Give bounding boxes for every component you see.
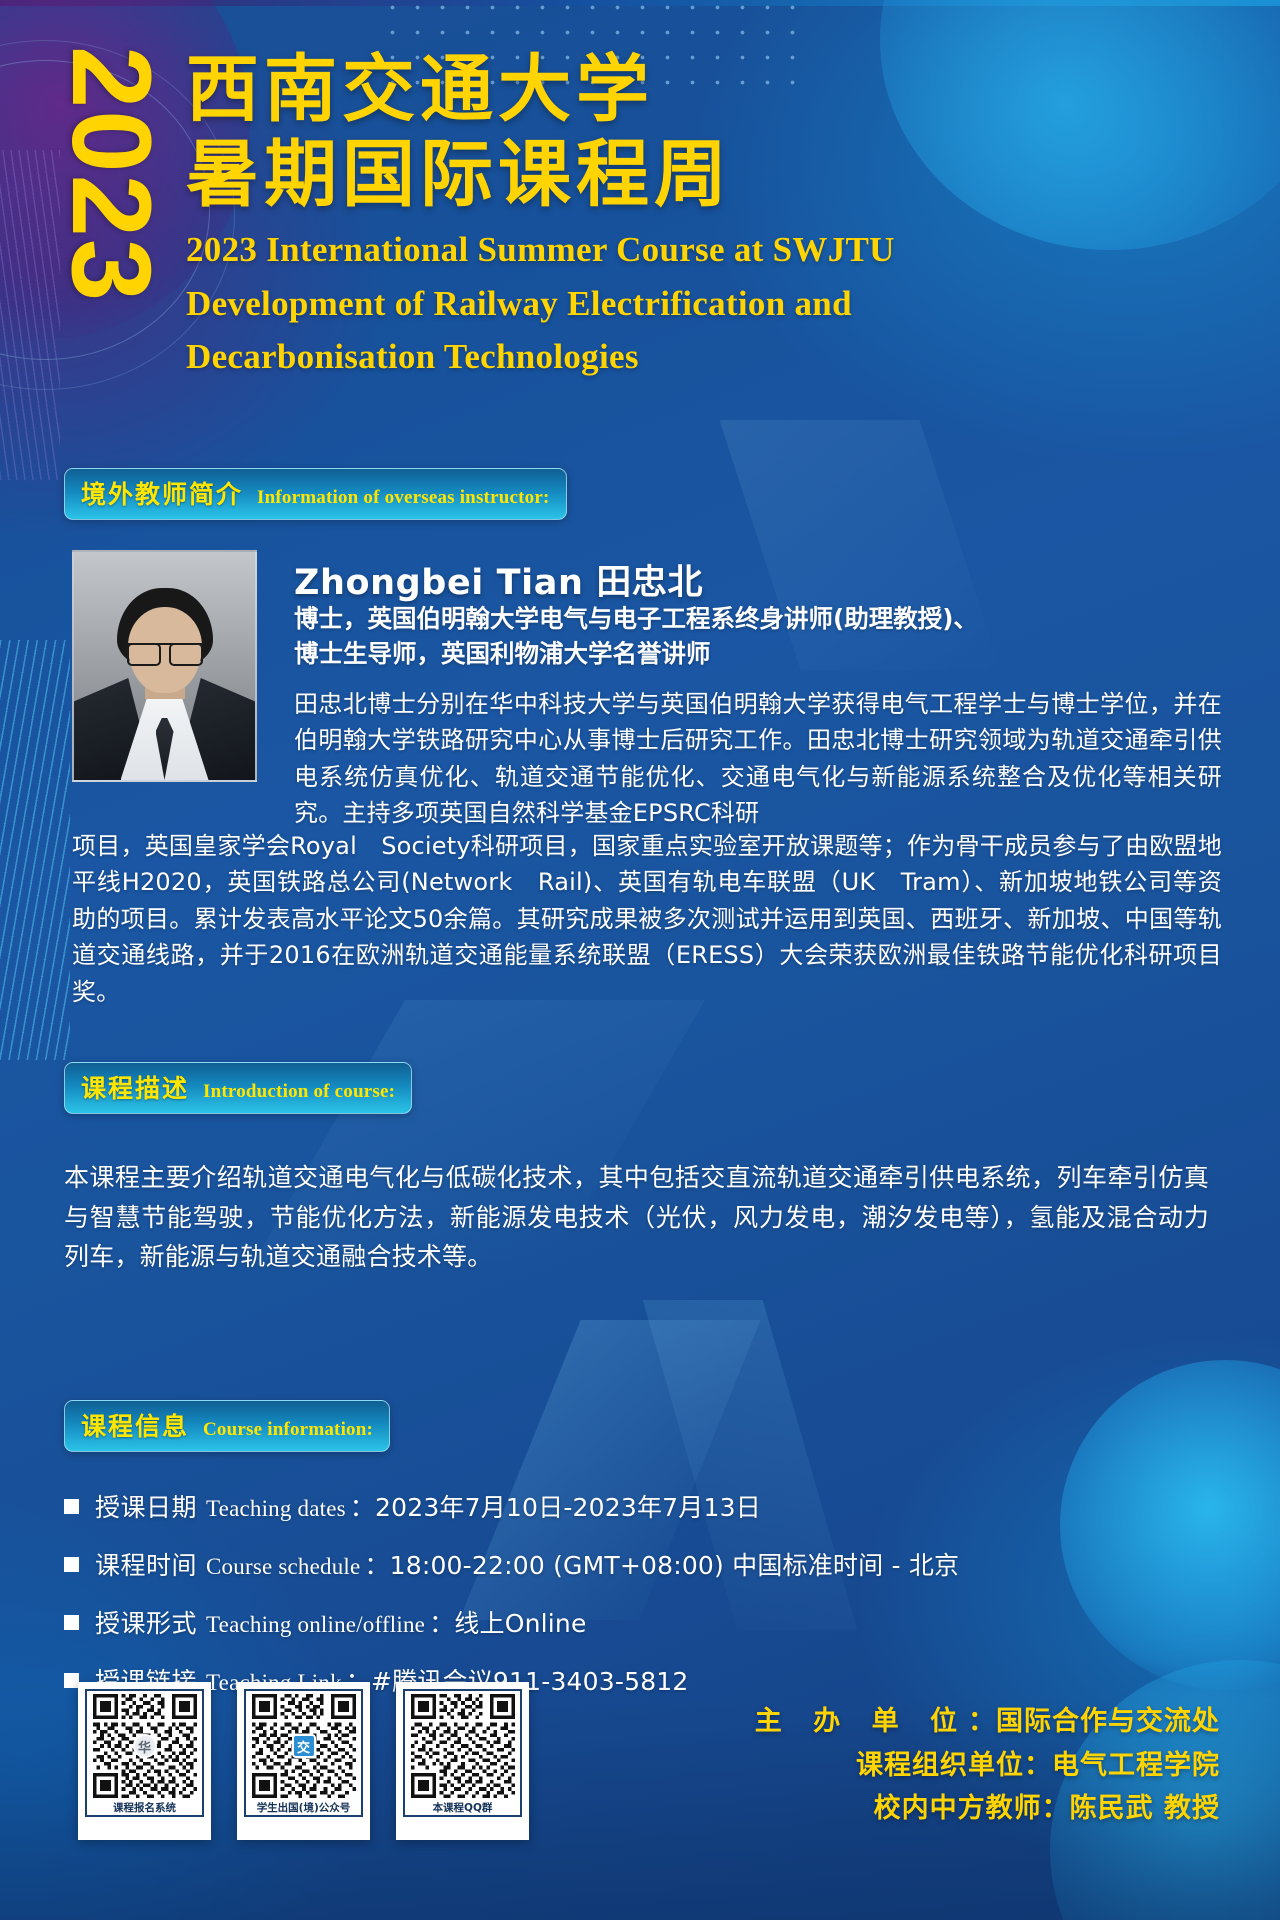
info-label-cn: 授课形式 <box>95 1604 197 1640</box>
info-row-course-schedule: 课程时间 Course schedule ：18:00-22:00 (GMT+0… <box>64 1546 1224 1582</box>
instructor-bio-paragraph-rest: 项目，英国皇家学会Royal Society科研项目，国家重点实验室开放课题等；… <box>72 828 1222 1010</box>
instructor-photo <box>72 550 257 782</box>
instructor-bio-paragraph-top: 田忠北博士分别在华中科技大学与英国伯明翰大学获得电气工程学士与博士学位，并在伯明… <box>294 686 1222 832</box>
footer-label-chinese-teacher: 校内中方教师 <box>874 1793 1042 1824</box>
instructor-title-line-2: 博士生导师，英国利物浦大学名誉讲师 <box>294 637 1224 672</box>
square-bullet-icon <box>64 1557 79 1572</box>
qr-code-icon: 华 <box>93 1694 197 1798</box>
info-value: ：线上Online <box>429 1604 586 1640</box>
poster-canvas: 2023 西南交通大学 暑期国际课程周 2023 International S… <box>0 0 1280 1920</box>
title-block: 西南交通大学 暑期国际课程周 2023 International Summer… <box>186 48 895 377</box>
instructor-title: 博士，英国伯明翰大学电气与电子工程系终身讲师(助理教授)、 博士生导师，英国利物… <box>294 602 1224 672</box>
info-label-en: Teaching online/offline <box>206 1612 425 1638</box>
course-information-list: 授课日期 Teaching dates ：2023年7月10日-2023年7月1… <box>64 1488 1224 1698</box>
info-label-en: Teaching dates <box>206 1496 346 1522</box>
info-row-teaching-dates: 授课日期 Teaching dates ：2023年7月10日-2023年7月1… <box>64 1488 1224 1524</box>
qr-code-group: 华 课程报名系统 <box>78 1682 529 1840</box>
section-header-instructor-cn: 境外教师简介 <box>81 475 243 511</box>
qr-caption: 课程报名系统 <box>113 1800 176 1815</box>
course-description-body: 本课程主要介绍轨道交通电气化与低碳化技术，其中包括交直流轨道交通牵引供电系统，列… <box>64 1158 1209 1277</box>
square-bullet-icon <box>64 1499 79 1514</box>
section-header-description-en: Introduction of course: <box>203 1081 395 1103</box>
square-bullet-icon <box>64 1673 79 1688</box>
footer-row-course-unit: 课程组织单位：电气工程学院 <box>755 1744 1220 1788</box>
poster-footer: 主 办 单 位：国际合作与交流处 课程组织单位：电气工程学院 校内中方教师：陈民… <box>755 1700 1220 1831</box>
info-label-cn: 授课日期 <box>95 1488 197 1524</box>
instructor-title-line-1: 博士，英国伯明翰大学电气与电子工程系终身讲师(助理教授)、 <box>294 602 1224 637</box>
qr-caption: 本课程QQ群 <box>433 1800 493 1815</box>
year-vertical-label: 2023 <box>60 46 163 303</box>
info-value: ：2023年7月10日-2023年7月13日 <box>350 1488 761 1524</box>
footer-value-course-unit: ：电气工程学院 <box>1024 1750 1220 1781</box>
info-label-cn: 课程时间 <box>95 1546 197 1582</box>
qr-card-qq-group[interactable]: 本课程QQ群 <box>396 1682 529 1840</box>
qr-code-icon: 交 <box>252 1694 356 1798</box>
section-header-instructor-en: Information of overseas instructor: <box>257 487 549 509</box>
info-value: ：18:00-22:00 (GMT+08:00) 中国标准时间 - 北京 <box>364 1546 959 1582</box>
qr-frame: 华 课程报名系统 <box>85 1689 204 1817</box>
section-header-information-cn: 课程信息 <box>81 1407 189 1443</box>
footer-value-chinese-teacher: ：陈民武 教授 <box>1042 1793 1220 1824</box>
course-information-section: 课程信息 Course information: 授课日期 Teaching d… <box>64 1400 1224 1720</box>
section-header-instructor: 境外教师简介 Information of overseas instructo… <box>64 468 567 520</box>
line-pattern-lower-left <box>0 640 70 1060</box>
qr-frame: 本课程QQ群 <box>403 1689 522 1817</box>
instructor-section: 境外教师简介 Information of overseas instructo… <box>64 468 1224 520</box>
footer-row-organizer: 主 办 单 位：国际合作与交流处 <box>755 1700 1220 1744</box>
footer-label-course-unit: 课程组织单位 <box>856 1750 1024 1781</box>
glasses-icon <box>127 643 203 663</box>
info-label-en: Course schedule <box>206 1554 360 1580</box>
qr-center-logo: 交 <box>292 1734 316 1758</box>
qr-card-wechat-official[interactable]: 交 学生出国(境)公众号 <box>237 1682 370 1840</box>
qr-code-icon <box>411 1694 515 1798</box>
english-title-line-2: Development of Railway Electrification a… <box>186 283 895 324</box>
qr-caption: 学生出国(境)公众号 <box>257 1800 351 1815</box>
qr-card-registration[interactable]: 华 课程报名系统 <box>78 1682 211 1840</box>
poster-header: 2023 西南交通大学 暑期国际课程周 2023 International S… <box>0 0 1280 430</box>
square-bullet-icon <box>64 1615 79 1630</box>
section-header-information-en: Course information: <box>203 1419 373 1441</box>
english-title-line-3: Decarbonisation Technologies <box>186 336 895 377</box>
instructor-name: Zhongbei Tian 田忠北 <box>294 554 703 605</box>
chinese-title-line-2: 暑期国际课程周 <box>186 133 895 218</box>
footer-label-organizer: 主 办 单 位 <box>755 1706 968 1737</box>
section-header-description: 课程描述 Introduction of course: <box>64 1062 412 1114</box>
footer-value-organizer: ：国际合作与交流处 <box>968 1706 1220 1737</box>
qr-center-logo: 华 <box>133 1734 157 1758</box>
section-header-description-cn: 课程描述 <box>81 1069 189 1105</box>
section-header-information: 课程信息 Course information: <box>64 1400 390 1452</box>
info-row-teaching-mode: 授课形式 Teaching online/offline ：线上Online <box>64 1604 1224 1640</box>
course-description-section: 课程描述 Introduction of course: 本课程主要介绍轨道交通… <box>64 1062 1224 1277</box>
qr-matrix <box>411 1694 515 1798</box>
footer-row-chinese-teacher: 校内中方教师：陈民武 教授 <box>755 1787 1220 1831</box>
chinese-title-line-1: 西南交通大学 <box>186 48 895 133</box>
qr-frame: 交 学生出国(境)公众号 <box>244 1689 363 1817</box>
english-title-line-1: 2023 International Summer Course at SWJT… <box>186 229 895 270</box>
